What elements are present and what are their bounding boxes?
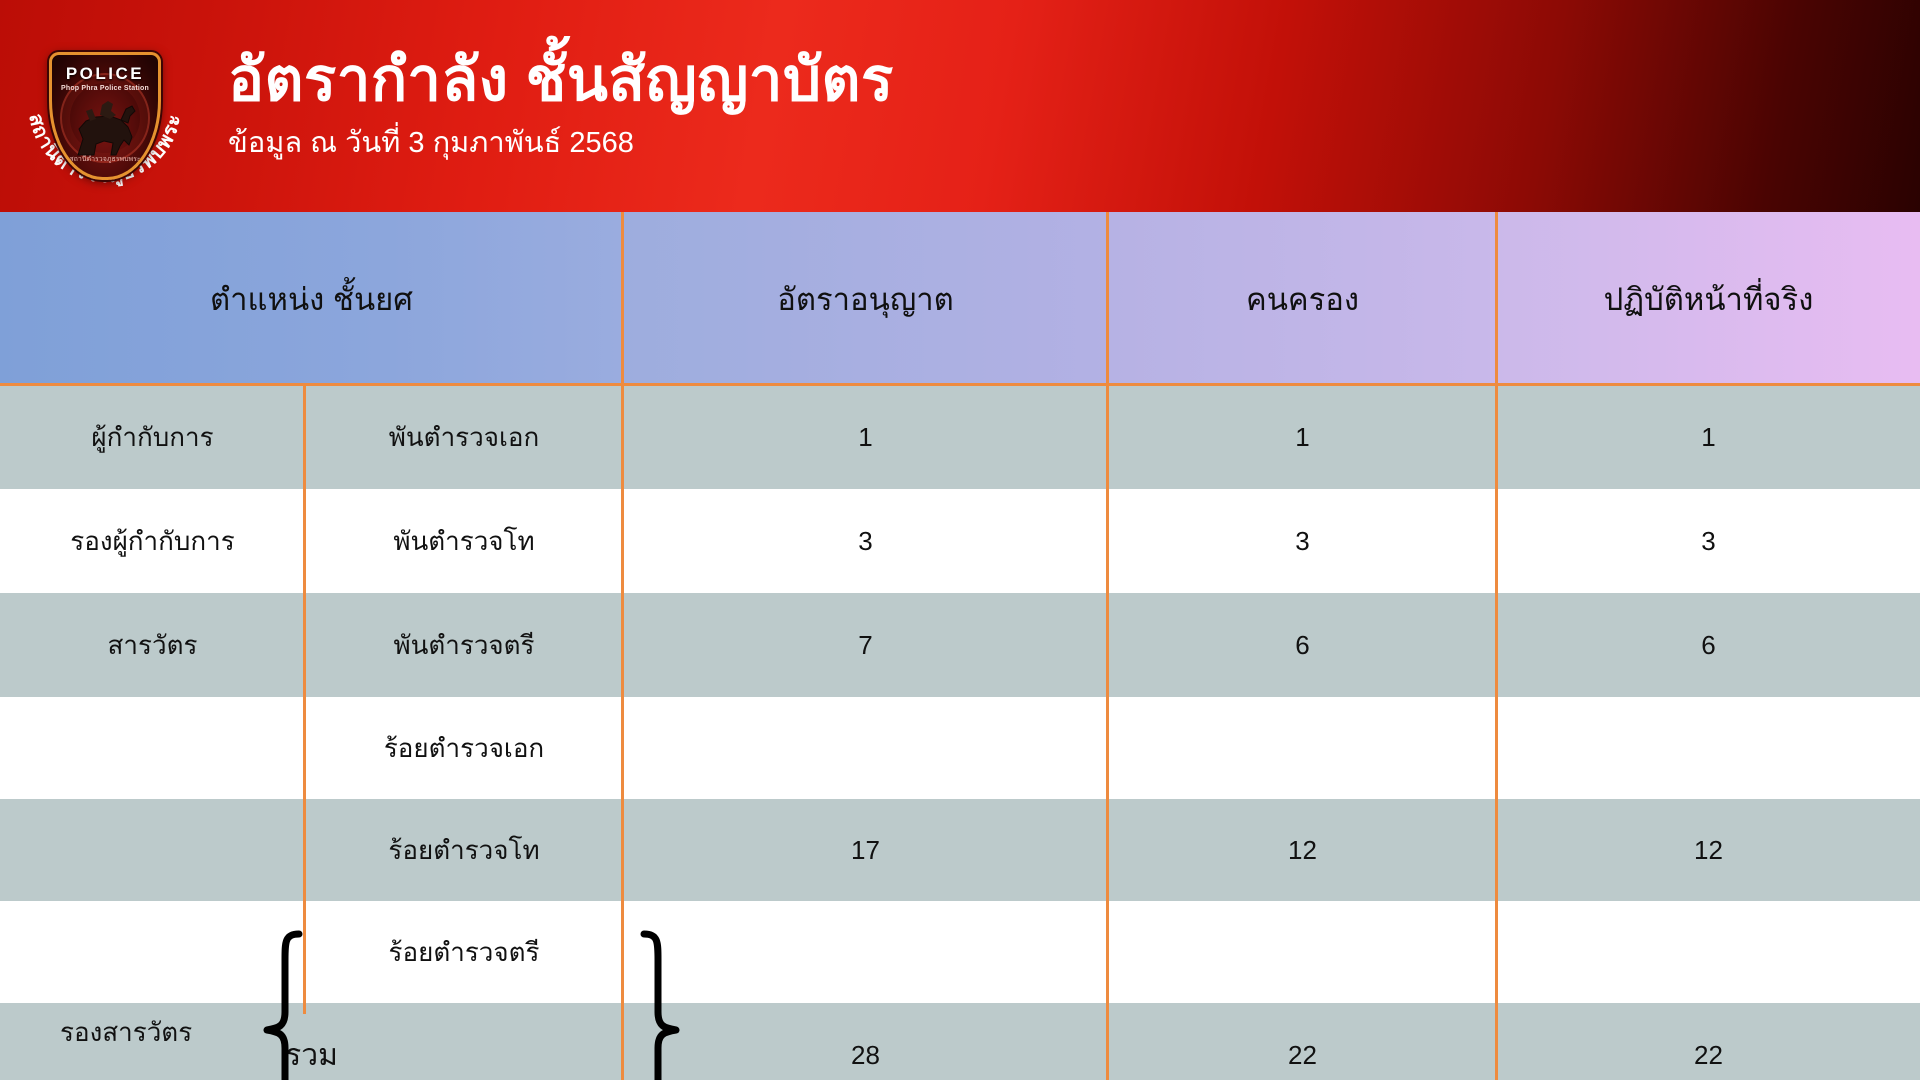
manpower-table: ตำแหน่ง ชั้นยศ อัตราอนุญาต คนครอง ปฏิบัต… bbox=[0, 212, 1920, 1080]
cell-actual-spacer bbox=[1497, 697, 1920, 799]
cell-held-spacer bbox=[1108, 697, 1497, 799]
police-badge-shield: POLICE Phop Phra Police Station สถานีตำร… bbox=[49, 52, 161, 180]
table-row: รองผู้กำกับการ พันตำรวจโท 3 3 3 bbox=[0, 489, 1920, 593]
cell-allowed: 3 bbox=[623, 489, 1108, 593]
cell-held: 3 bbox=[1108, 489, 1497, 593]
header-cell-position: ตำแหน่ง ชั้นยศ bbox=[0, 212, 623, 385]
header-cell-allowed: อัตราอนุญาต bbox=[623, 212, 1108, 385]
page-title: อัตรากำลัง ชั้นสัญญาบัตร bbox=[228, 45, 1920, 116]
cell-position-grouped: รองสารวัตร bbox=[60, 1012, 192, 1053]
cell-rank: พันตำรวจเอก bbox=[305, 385, 623, 489]
cell-total-allowed: 28 bbox=[623, 1003, 1108, 1080]
cell-rank: พันตำรวจโท bbox=[305, 489, 623, 593]
cell-position: ผู้กำกับการ bbox=[0, 385, 305, 489]
badge-station-th: สถานีตำรวจภูธรพบพระ bbox=[52, 154, 158, 165]
cell-position-spacer bbox=[0, 799, 305, 901]
cell-held: 6 bbox=[1108, 593, 1497, 697]
cell-actual: 6 bbox=[1497, 593, 1920, 697]
cell-actual: 12 bbox=[1497, 799, 1920, 901]
cell-allowed: 7 bbox=[623, 593, 1108, 697]
cell-rank: ร้อยตำรวจเอก bbox=[305, 697, 623, 799]
table-row-group-2: ร้อยตำรวจโท 17 12 12 bbox=[0, 799, 1920, 901]
table-row-group-3: ร้อยตำรวจตรี bbox=[0, 901, 1920, 1003]
cell-allowed: 17 bbox=[623, 799, 1108, 901]
page-subtitle: ข้อมูล ณ วันที่ 3 กุมภาพันธ์ 2568 bbox=[228, 126, 1920, 161]
cell-actual-spacer bbox=[1497, 901, 1920, 1003]
cell-held-spacer bbox=[1108, 901, 1497, 1003]
cell-actual: 3 bbox=[1497, 489, 1920, 593]
cell-allowed-spacer bbox=[623, 697, 1108, 799]
cell-total-actual: 22 bbox=[1497, 1003, 1920, 1080]
cell-allowed-spacer bbox=[623, 901, 1108, 1003]
badge-station-en: Phop Phra Police Station bbox=[52, 85, 158, 92]
cell-rank: พันตำรวจตรี bbox=[305, 593, 623, 697]
cell-held: 1 bbox=[1108, 385, 1497, 489]
table-row: สารวัตร พันตำรวจตรี 7 6 6 bbox=[0, 593, 1920, 697]
cell-rank: ร้อยตำรวจโท bbox=[305, 799, 623, 901]
table-header-row: ตำแหน่ง ชั้นยศ อัตราอนุญาต คนครอง ปฏิบัต… bbox=[0, 212, 1920, 385]
logo-wrap: สถานีตำรวจภูธรพบพระ POLICE Phop Phra Pol… bbox=[7, 8, 203, 204]
horse-rider-icon bbox=[66, 99, 144, 161]
badge-police-text: POLICE bbox=[52, 64, 158, 84]
cell-position-spacer bbox=[0, 697, 305, 799]
table-row-group-1: ร้อยตำรวจเอก bbox=[0, 697, 1920, 799]
cell-total-held: 22 bbox=[1108, 1003, 1497, 1080]
table-total-row: รวม 28 22 22 bbox=[0, 1003, 1920, 1080]
header-cell-actual: ปฏิบัติหน้าที่จริง bbox=[1497, 212, 1920, 385]
cell-position: สารวัตร bbox=[0, 593, 305, 697]
station-logo: สถานีตำรวจภูธรพบพระ POLICE Phop Phra Pol… bbox=[0, 1, 210, 211]
cell-actual: 1 bbox=[1497, 385, 1920, 489]
cell-position-spacer bbox=[0, 901, 305, 1003]
header-banner: สถานีตำรวจภูธรพบพระ POLICE Phop Phra Pol… bbox=[0, 0, 1920, 212]
cell-position: รองผู้กำกับการ bbox=[0, 489, 305, 593]
banner-title-block: อัตรากำลัง ชั้นสัญญาบัตร ข้อมูล ณ วันที่… bbox=[210, 45, 1920, 167]
cell-rank: ร้อยตำรวจตรี bbox=[305, 901, 623, 1003]
cell-allowed: 1 bbox=[623, 385, 1108, 489]
table-row: ผู้กำกับการ พันตำรวจเอก 1 1 1 bbox=[0, 385, 1920, 489]
header-cell-held: คนครอง bbox=[1108, 212, 1497, 385]
slide-root: สถานีตำรวจภูธรพบพระ POLICE Phop Phra Pol… bbox=[0, 0, 1920, 1080]
cell-held: 12 bbox=[1108, 799, 1497, 901]
